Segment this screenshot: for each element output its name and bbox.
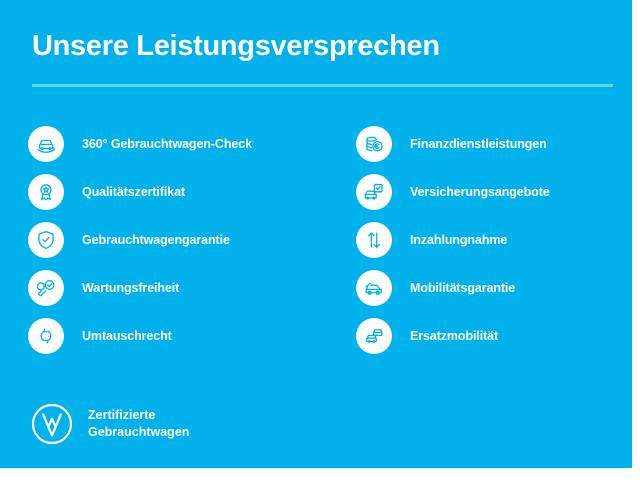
tow-truck-icon: [356, 270, 392, 306]
header-divider: [32, 84, 613, 87]
benefits-column-left: 360° Gebrauchtwagen-Check Qualitätszerti…: [28, 120, 252, 360]
coins-euro-icon: [356, 126, 392, 162]
list-item-label: Qualitätszertifikat: [82, 185, 185, 199]
list-item-label: Gebrauchtwagengarantie: [82, 233, 230, 247]
award-medal-star-icon: [28, 174, 64, 210]
volkswagen-logo: [30, 402, 74, 446]
list-item[interactable]: Mobilitätsgarantie: [356, 264, 550, 312]
brand-footer: Zertifizierte Gebrauchtwagen: [30, 402, 189, 446]
list-item-label: Wartungsfreiheit: [82, 281, 179, 295]
list-item[interactable]: Wartungsfreiheit: [28, 264, 252, 312]
two-cars-icon: [356, 318, 392, 354]
list-item-label: Finanzdienstleistungen: [410, 137, 547, 151]
list-item-label: 360° Gebrauchtwagen-Check: [82, 137, 252, 151]
exchange-arrows-icon: [28, 318, 64, 354]
list-item-label: Ersatzmobilität: [410, 329, 498, 343]
benefits-column-right: Finanzdienstleistungen Versicherungsange…: [356, 120, 550, 360]
wrench-check-icon: [28, 270, 64, 306]
list-item-label: Umtauschrecht: [82, 329, 172, 343]
car-360-check-icon: [28, 126, 64, 162]
brand-footer-text: Zertifizierte Gebrauchtwagen: [88, 407, 189, 441]
shield-check-icon: [28, 222, 64, 258]
list-item[interactable]: Finanzdienstleistungen: [356, 120, 550, 168]
list-item-label: Mobilitätsgarantie: [410, 281, 515, 295]
list-item[interactable]: Qualitätszertifikat: [28, 168, 252, 216]
list-item[interactable]: 360° Gebrauchtwagen-Check: [28, 120, 252, 168]
list-item-label: Inzahlungnahme: [410, 233, 507, 247]
list-item[interactable]: Ersatzmobilität: [356, 312, 550, 360]
list-item[interactable]: Gebrauchtwagengarantie: [28, 216, 252, 264]
list-item[interactable]: Umtauschrecht: [28, 312, 252, 360]
list-item[interactable]: Versicherungsangebote: [356, 168, 550, 216]
car-document-icon: [356, 174, 392, 210]
page-title: Unsere Leistungsversprechen: [32, 30, 440, 63]
up-down-arrows-icon: [356, 222, 392, 258]
list-item-label: Versicherungsangebote: [410, 185, 550, 199]
promise-panel: Unsere Leistungsversprechen 360° Gebrauc…: [0, 0, 632, 468]
list-item[interactable]: Inzahlungnahme: [356, 216, 550, 264]
